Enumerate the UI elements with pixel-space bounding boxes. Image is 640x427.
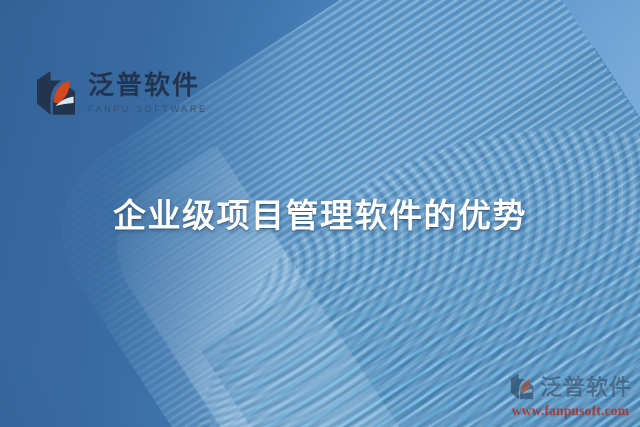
brand-text: 泛普软件 FANPU SOFTWARE bbox=[88, 73, 208, 114]
marketing-banner: 泛普软件 FANPU SOFTWARE 企业级项目管理软件的优势 泛普软件 ww… bbox=[0, 0, 640, 427]
brand-logo: 泛普软件 FANPU SOFTWARE bbox=[35, 70, 208, 116]
page-title: 企业级项目管理软件的优势 bbox=[0, 197, 640, 236]
fanpu-hexagon-swoosh-icon bbox=[35, 70, 77, 116]
brand-name-cn: 泛普软件 bbox=[88, 73, 208, 99]
brand-name-en: FANPU SOFTWARE bbox=[88, 105, 208, 114]
